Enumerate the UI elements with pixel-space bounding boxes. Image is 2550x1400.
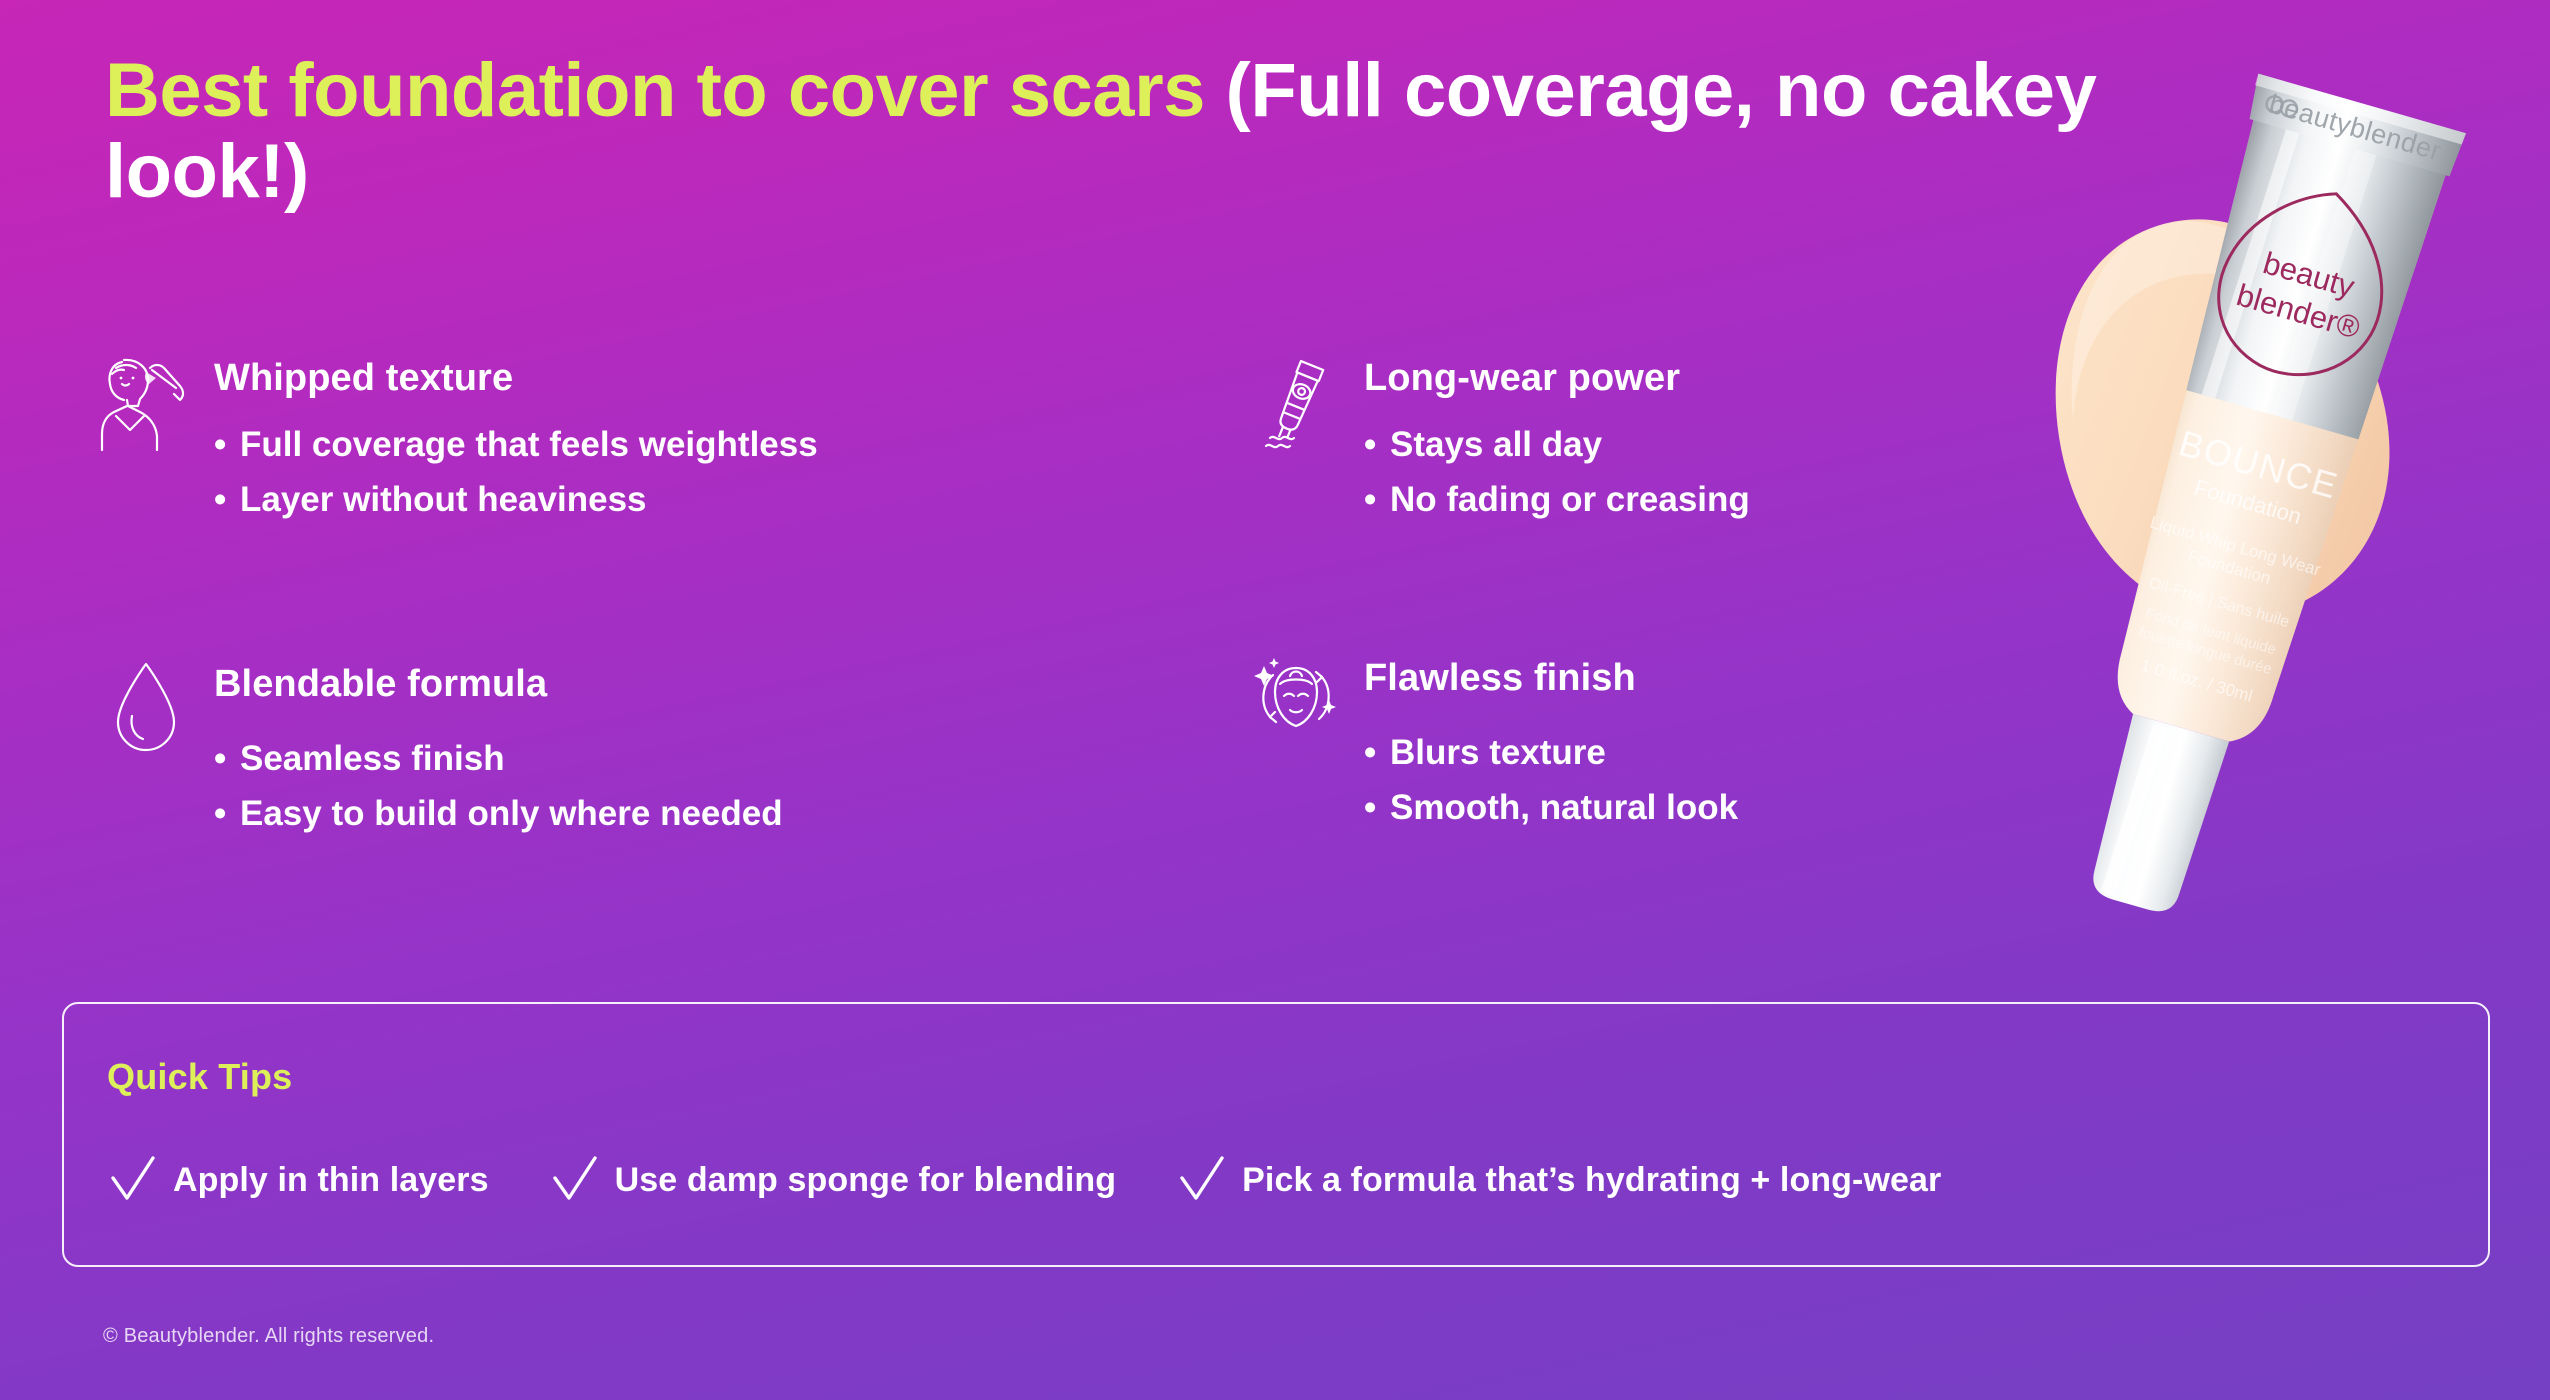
feature-title: Long-wear power <box>1364 358 1750 400</box>
tube-cap <box>2082 714 2229 918</box>
quick-tip-item: Pick a formula that’s hydrating + long-w… <box>1176 1152 1941 1208</box>
feature-point: •No fading or creasing <box>1364 479 1750 520</box>
bullet-glyph: • <box>214 738 226 779</box>
svg-text:Foundation: Foundation <box>2192 475 2305 529</box>
svg-text:fouetté longue durée: fouetté longue durée <box>2137 624 2274 678</box>
quick-tip-item: Use damp sponge for blending <box>549 1152 1117 1208</box>
feature-point: •Blurs texture <box>1364 732 1738 773</box>
bullet-glyph: • <box>214 479 226 520</box>
bullet-glyph: • <box>1364 424 1376 465</box>
page-title: Best foundation to cover scars (Full cov… <box>105 50 2205 213</box>
bullet-glyph: • <box>214 793 226 834</box>
tube-label-text: BOUNCE Foundation Liquid Whip Long Wear … <box>2109 420 2349 714</box>
glowing-face-sparkle-icon <box>1250 646 1342 750</box>
infographic-canvas: beautyblender beauty blender® BOUNCE Fou… <box>0 0 2550 1400</box>
feature-long-wear-power: Long-wear power •Stays all day •No fadin… <box>1250 352 2080 534</box>
feature-point-label: Full coverage that feels weightless <box>240 425 818 464</box>
feature-title: Blendable formula <box>214 664 783 706</box>
water-droplet-icon <box>100 658 192 762</box>
feature-point: •Smooth, natural look <box>1364 787 1738 828</box>
feature-blendable-formula: Blendable formula •Seamless finish •Easy… <box>100 658 1250 848</box>
footer-copyright: © Beautyblender. All rights reserved. <box>103 1325 434 1348</box>
feature-points: •Seamless finish •Easy to build only whe… <box>214 738 783 835</box>
feature-points: •Blurs texture •Smooth, natural look <box>1364 732 1738 829</box>
svg-text:Liquid Whip Long Wear: Liquid Whip Long Wear <box>2148 513 2323 580</box>
bullet-glyph: • <box>1364 479 1376 520</box>
bullet-glyph: • <box>214 424 226 465</box>
crimp-brand-text: beautyblender <box>2266 89 2445 167</box>
feature-point-label: No fading or creasing <box>1390 480 1750 519</box>
feature-grid: Whipped texture •Full coverage that feel… <box>100 352 2080 849</box>
svg-text:BOUNCE: BOUNCE <box>2174 422 2343 507</box>
logo-line-2: blender® <box>2233 277 2364 345</box>
quick-tips-title: Quick Tips <box>107 1056 292 1098</box>
quick-tips-panel: Quick Tips Apply in thin layers Use damp… <box>62 1002 2490 1267</box>
feature-flawless-finish: Flawless finish •Blurs texture •Smooth, … <box>1250 658 2080 848</box>
feature-row-1: Whipped texture •Full coverage that feel… <box>100 352 2080 534</box>
feature-point-label: Smooth, natural look <box>1390 788 1738 827</box>
checkmark-icon <box>549 1152 601 1208</box>
svg-text:Oil-Free | Sans huile: Oil-Free | Sans huile <box>2147 575 2292 631</box>
feature-point-label: Layer without heaviness <box>240 480 647 519</box>
feature-body: Flawless finish •Blurs texture •Smooth, … <box>1364 658 1738 842</box>
feature-point: •Full coverage that feels weightless <box>214 424 818 465</box>
feature-title: Whipped texture <box>214 358 818 400</box>
quick-tip-item: Apply in thin layers <box>107 1152 489 1208</box>
feature-point: •Stays all day <box>1364 424 1750 465</box>
checkmark-icon <box>107 1152 159 1208</box>
feature-point: •Layer without heaviness <box>214 479 818 520</box>
feature-body: Long-wear power •Stays all day •No fadin… <box>1364 352 1750 534</box>
quick-tip-label: Use damp sponge for blending <box>615 1161 1117 1200</box>
bullet-glyph: • <box>1364 787 1376 828</box>
tube-crimp: beautyblender <box>2246 74 2466 178</box>
feature-point: •Easy to build only where needed <box>214 793 783 834</box>
logo-line-1: beauty <box>2259 245 2359 304</box>
feature-point-label: Easy to build only where needed <box>240 794 783 833</box>
checkmark-icon <box>1176 1152 1228 1208</box>
squeeze-tube-icon <box>1250 354 1342 458</box>
feature-point-label: Stays all day <box>1390 425 1602 464</box>
feature-points: •Stays all day •No fading or creasing <box>1364 424 1750 521</box>
feature-point: •Seamless finish <box>214 738 783 779</box>
quick-tip-label: Apply in thin layers <box>173 1161 489 1200</box>
beautyblender-logo-mark: beauty blender® <box>2200 170 2407 395</box>
quick-tip-label: Pick a formula that’s hydrating + long-w… <box>1242 1161 1941 1200</box>
svg-text:1.0 fl.oz. / 30ml: 1.0 fl.oz. / 30ml <box>2139 656 2255 706</box>
quick-tips-list: Apply in thin layers Use damp sponge for… <box>107 1152 2448 1208</box>
feature-point-label: Blurs texture <box>1390 733 1606 772</box>
svg-text:Fond de teint liquide: Fond de teint liquide <box>2143 605 2278 659</box>
feature-point-label: Seamless finish <box>240 739 505 778</box>
headline-accent: Best foundation to cover scars <box>105 48 1205 133</box>
bullet-glyph: • <box>1364 732 1376 773</box>
feature-body: Blendable formula •Seamless finish •Easy… <box>214 658 783 848</box>
svg-text:Foundation: Foundation <box>2186 546 2273 588</box>
feature-row-2: Blendable formula •Seamless finish •Easy… <box>100 658 2080 848</box>
feature-points: •Full coverage that feels weightless •La… <box>214 424 818 521</box>
feature-whipped-texture: Whipped texture •Full coverage that feel… <box>100 352 1250 534</box>
feature-title: Flawless finish <box>1364 658 1738 700</box>
woman-applying-makeup-icon <box>100 354 192 458</box>
feature-body: Whipped texture •Full coverage that feel… <box>214 352 818 534</box>
